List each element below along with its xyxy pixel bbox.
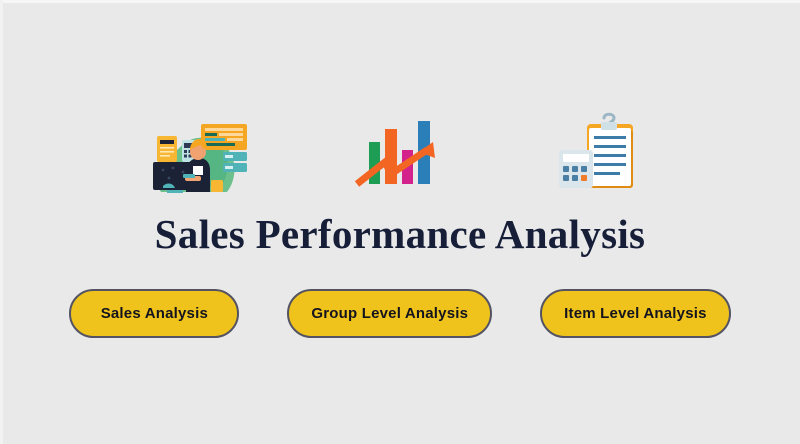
group-level-analysis-button[interactable]: Group Level Analysis [287, 289, 492, 338]
business-analyst-desk-illustration [139, 106, 249, 198]
page-title: Sales Performance Analysis [0, 210, 800, 258]
analysis-button-row: Sales Analysis Group Level Analysis Item… [0, 289, 800, 338]
sales-analysis-button-label: Sales Analysis [101, 305, 208, 322]
clipboard-calculator-icon [551, 106, 661, 198]
top-edge-strip [0, 0, 800, 3]
page-root: Sales Performance Analysis Sales Analysi… [0, 0, 800, 444]
group-level-analysis-button-label: Group Level Analysis [311, 305, 468, 322]
item-level-analysis-button[interactable]: Item Level Analysis [540, 289, 730, 338]
item-level-analysis-button-label: Item Level Analysis [564, 305, 706, 322]
icon-row [0, 106, 800, 198]
sales-analysis-button[interactable]: Sales Analysis [69, 289, 239, 338]
growth-bar-chart-arrow-icon [345, 106, 455, 198]
